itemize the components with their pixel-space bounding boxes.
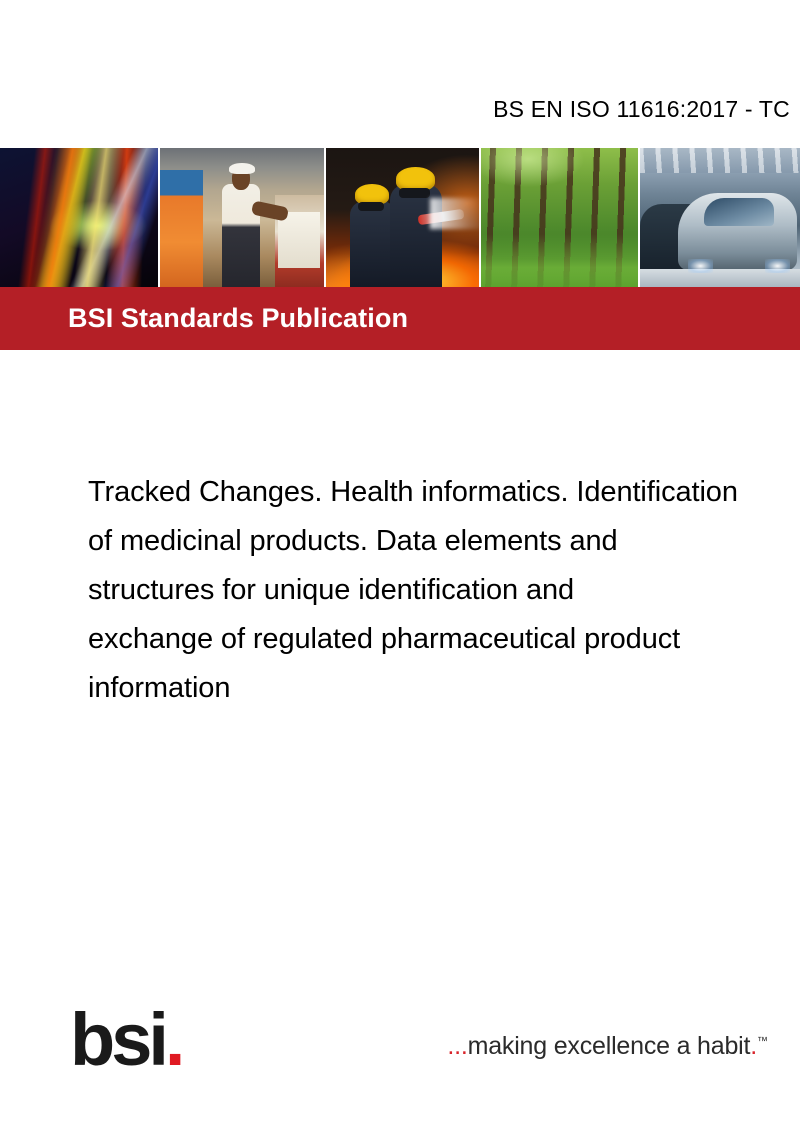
firefighter-visor-left bbox=[358, 202, 384, 210]
title-line-1: Tracked Changes. Health informatics. Ide… bbox=[88, 468, 800, 517]
publication-title: Tracked Changes. Health informatics. Ide… bbox=[88, 468, 800, 713]
firefighter-visor-right bbox=[399, 188, 430, 198]
cover-page: BS EN ISO 11616:2017 - TC bbox=[0, 0, 800, 1132]
cover-photo-strip bbox=[0, 148, 800, 287]
bsi-logo-dot: . bbox=[165, 998, 182, 1081]
title-line-2: of medicinal products. Data elements and bbox=[88, 517, 800, 566]
vehicle-windshield bbox=[704, 198, 775, 226]
warehouse-box bbox=[278, 212, 320, 268]
bsi-logo: bsi. bbox=[70, 1003, 181, 1077]
water-jet bbox=[430, 198, 479, 229]
bsi-logo-text: bsi bbox=[70, 998, 165, 1081]
standards-publication-banner: BSI Standards Publication bbox=[0, 287, 800, 350]
title-line-3: structures for unique identification and bbox=[88, 566, 800, 615]
tagline-period: . bbox=[750, 1032, 757, 1060]
photo-panel-traffic-light-trails bbox=[0, 148, 158, 287]
worker-cap bbox=[229, 163, 255, 174]
banner-title: BSI Standards Publication bbox=[68, 302, 408, 333]
tagline-leading-dots: ... bbox=[447, 1032, 467, 1060]
title-line-4: exchange of regulated pharmaceutical pro… bbox=[88, 615, 800, 664]
vehicle-headlight-left bbox=[688, 259, 714, 273]
bsi-tagline: ...making excellence a habit.™ bbox=[447, 1032, 768, 1061]
document-reference: BS EN ISO 11616:2017 - TC bbox=[493, 96, 790, 123]
tagline-text: making excellence a habit bbox=[468, 1032, 751, 1060]
photo-panel-firefighters bbox=[324, 148, 479, 287]
title-line-5: information bbox=[88, 664, 800, 713]
factory-ceiling-lights bbox=[640, 148, 800, 173]
trademark-symbol: ™ bbox=[757, 1036, 768, 1048]
photo-panel-warehouse-worker bbox=[158, 148, 323, 287]
worker-body bbox=[222, 184, 260, 287]
vehicle-headlight-right bbox=[765, 259, 791, 273]
photo-panel-forest bbox=[479, 148, 637, 287]
warehouse-shelving-left bbox=[160, 170, 202, 287]
photo-panel-car-assembly-line bbox=[638, 148, 800, 287]
